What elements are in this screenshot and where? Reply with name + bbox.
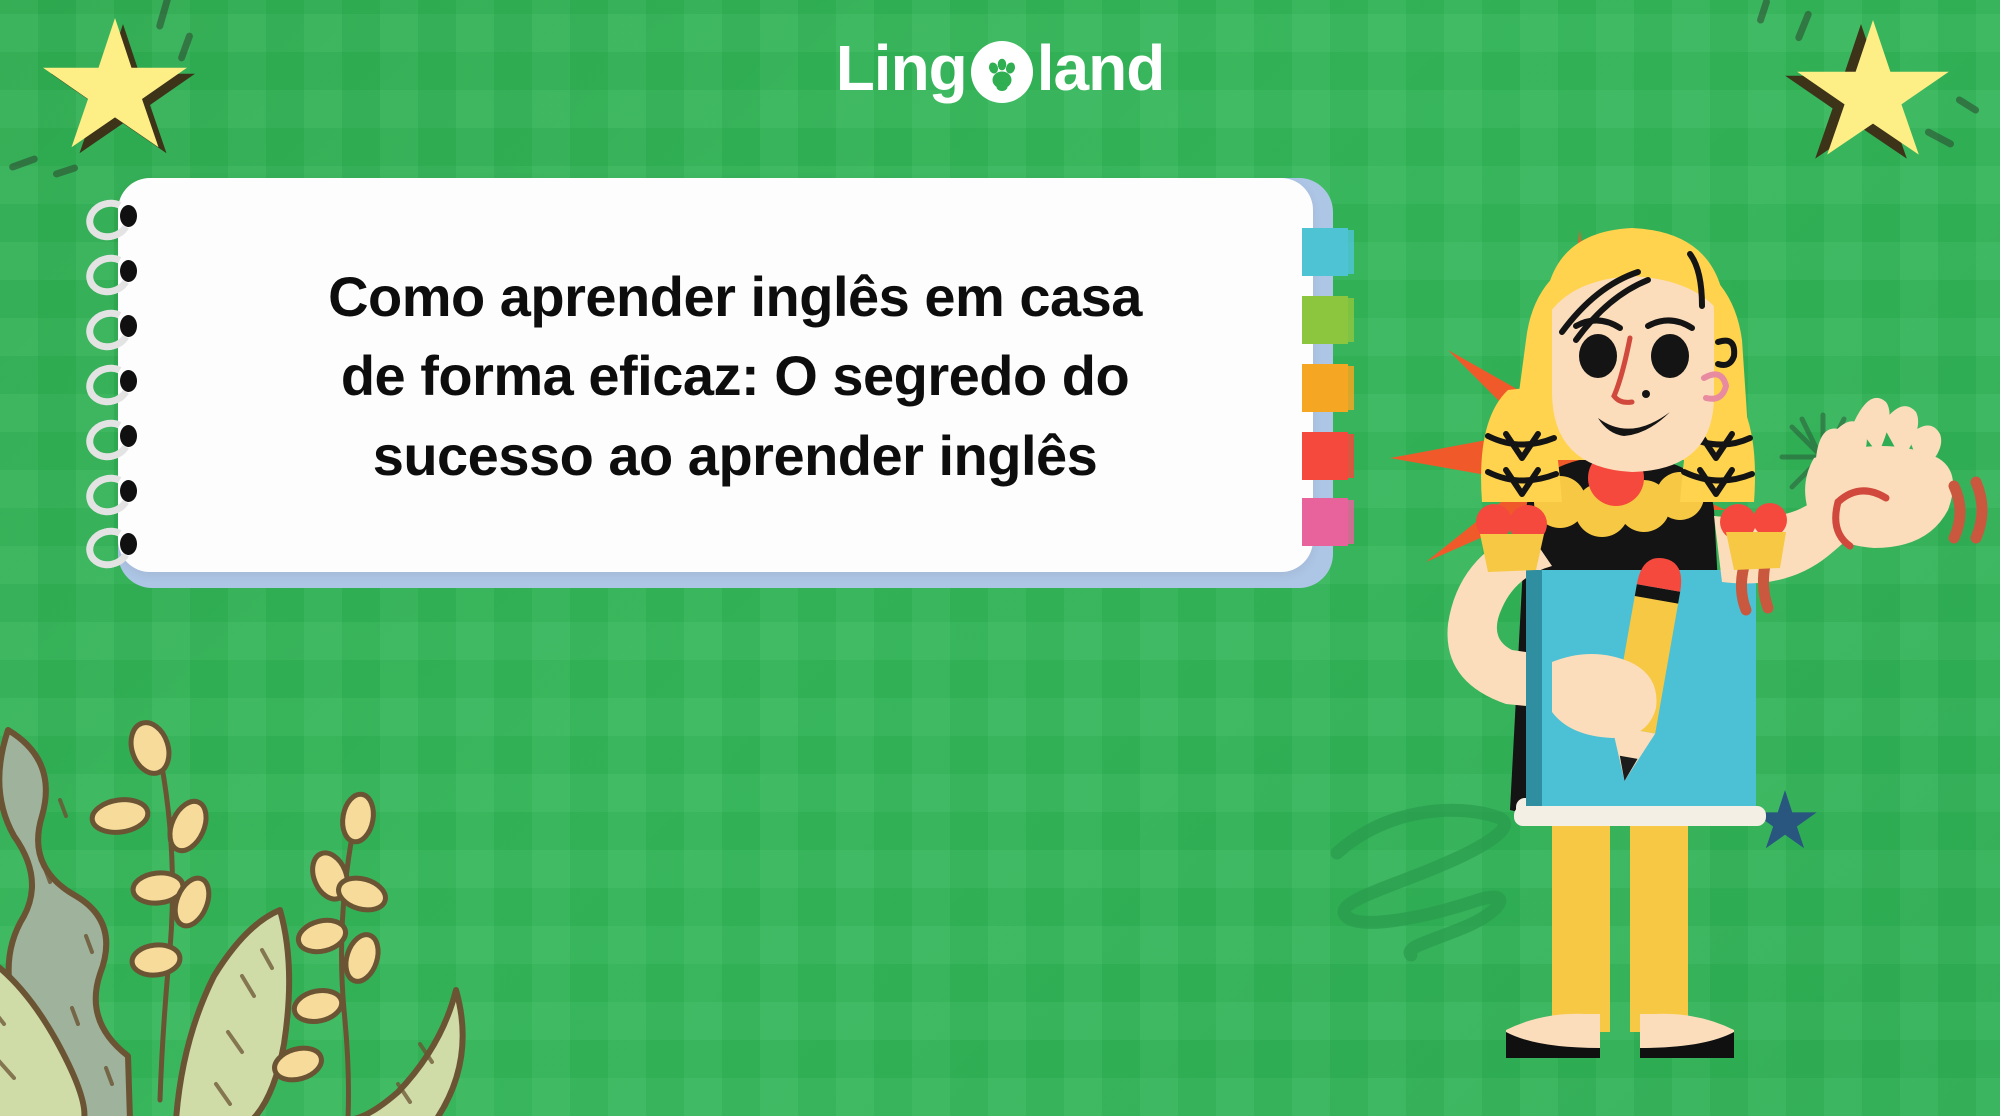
title-line-2: de forma eficaz: O segredo do (341, 336, 1129, 416)
spiral-hole (120, 205, 137, 227)
foliage-cluster (0, 640, 500, 1116)
dash-mark (52, 164, 79, 179)
leg-right (1630, 810, 1688, 1032)
spiral-hole (120, 533, 137, 555)
dash-mark (8, 155, 39, 172)
spiral-hole (120, 370, 137, 392)
notebook-edge (1514, 806, 1766, 826)
tab-orange[interactable] (1302, 364, 1348, 412)
hand-right (1805, 398, 1953, 548)
spiral-hole (120, 480, 137, 502)
title-line-3: sucesso ao aprender inglês (373, 416, 1098, 496)
brand-logo[interactable]: Ling land (0, 36, 2000, 100)
title-line-1: Como aprender inglês em casa (328, 257, 1142, 337)
waving-girl-with-notebook (1330, 210, 2000, 1116)
tab-pink[interactable] (1302, 498, 1348, 546)
leaf-center (176, 910, 289, 1116)
dash-mark (1756, 0, 1771, 24)
paw-print-icon (971, 41, 1033, 103)
logo-text-left: Ling (836, 36, 967, 100)
tab-cyan[interactable] (1302, 228, 1348, 276)
tab-lime[interactable] (1302, 296, 1348, 344)
beauty-mark (1642, 390, 1650, 398)
spiral-hole (120, 425, 137, 447)
tab-red[interactable] (1302, 432, 1348, 480)
article-title: Como aprender inglês em casa de forma ef… (150, 180, 1290, 572)
leg-left (1552, 810, 1610, 1032)
spiral-hole (120, 260, 137, 282)
poster-canvas: Ling land Como aprender inglês em cas (0, 0, 2000, 1116)
eye-right (1651, 334, 1689, 378)
notebook-spine (1526, 570, 1542, 816)
spiral-hole (120, 315, 137, 337)
thumb-left (1552, 658, 1588, 694)
logo-text-right: land (1037, 36, 1165, 100)
eye-left (1579, 334, 1617, 378)
